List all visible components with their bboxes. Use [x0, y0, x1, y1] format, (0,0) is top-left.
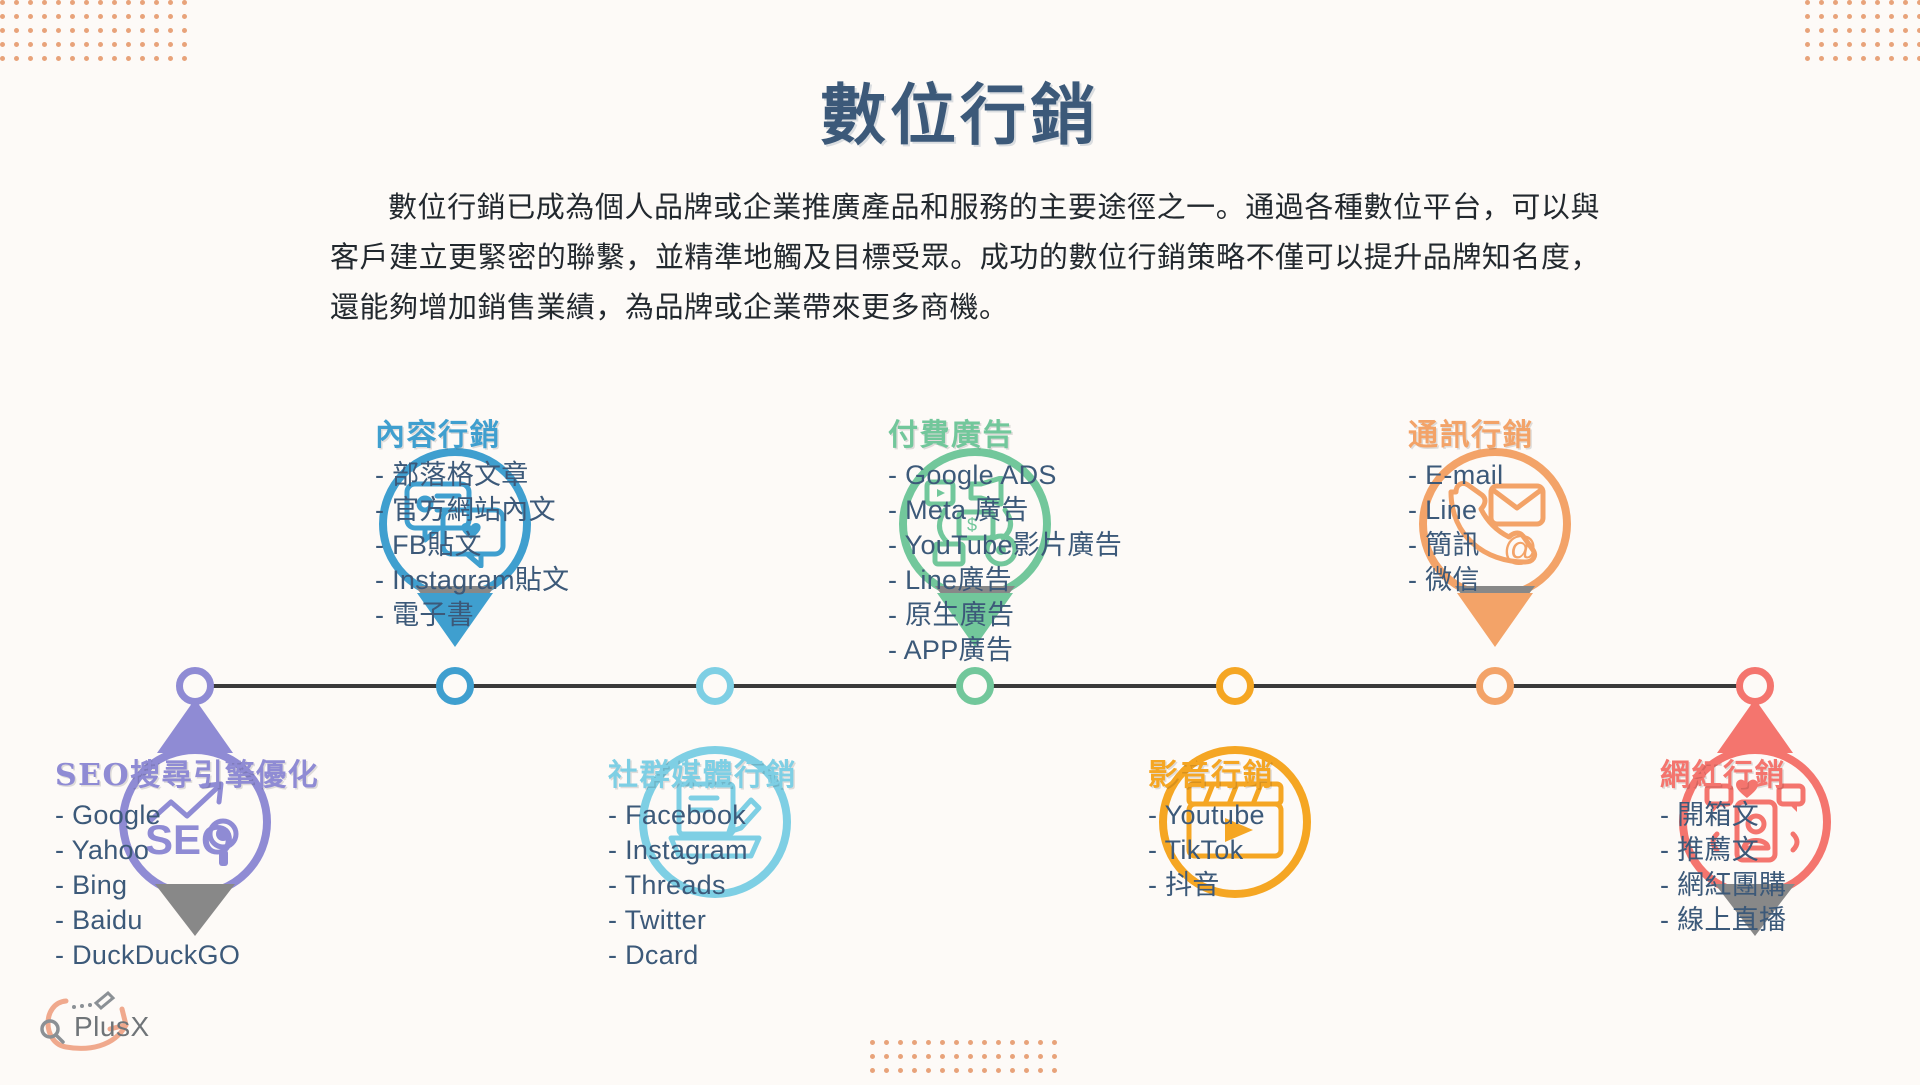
list-video: YoutubeTikTok抖音: [1148, 798, 1274, 903]
list-paid-ads: Google ADSMeta 廣告YouTube影片廣告Line廣告原生廣告AP…: [888, 458, 1122, 668]
list-item: 開箱文: [1660, 798, 1786, 833]
block-paid-ads: 付費廣告Google ADSMeta 廣告YouTube影片廣告Line廣告原生…: [888, 410, 1122, 668]
list-item: Google: [55, 798, 319, 833]
heading-messaging: 通訊行銷: [1408, 410, 1534, 454]
heading-seo: SEO搜尋引擎優化: [55, 750, 319, 794]
block-influencer: 網紅行銷開箱文推薦文網紅團購線上直播: [1660, 750, 1786, 938]
heading-paid-ads: 付費廣告: [888, 410, 1122, 454]
brand-logo: PlusX: [22, 985, 172, 1060]
pencil-icon: [96, 993, 113, 1008]
timeline-node-paid-ads[interactable]: [956, 667, 994, 705]
list-item: YouTube影片廣告: [888, 528, 1122, 563]
list-item: TikTok: [1148, 833, 1274, 868]
list-influencer: 開箱文推薦文網紅團購線上直播: [1660, 798, 1786, 938]
list-item: Twitter: [608, 903, 797, 938]
pin-tail-influencer: [1717, 699, 1793, 753]
list-item: Bing: [55, 868, 319, 903]
page-title: 數位行銷: [0, 62, 1920, 158]
list-item: Baidu: [55, 903, 319, 938]
list-item: Instagram: [608, 833, 797, 868]
list-item: E-mail: [1408, 458, 1534, 493]
logo-text: PlusX: [74, 1011, 150, 1043]
timeline-node-messaging[interactable]: [1476, 667, 1514, 705]
list-seo: GoogleYahooBingBaiduDuckDuckGO: [55, 798, 319, 973]
list-item: 線上直播: [1660, 903, 1786, 938]
pin-tail-seo: [157, 699, 233, 753]
block-content: 內容行銷部落格文章官方網站內文FB貼文Instagram貼文電子書: [375, 410, 569, 633]
list-item: Meta 廣告: [888, 493, 1122, 528]
list-messaging: E-mailLine簡訊微信: [1408, 458, 1534, 598]
pin-tail-messaging: [1457, 593, 1533, 647]
block-messaging: 通訊行銷E-mailLine簡訊微信: [1408, 410, 1534, 598]
list-item: Threads: [608, 868, 797, 903]
list-item: Youtube: [1148, 798, 1274, 833]
list-content: 部落格文章官方網站內文FB貼文Instagram貼文電子書: [375, 458, 569, 633]
timeline-node-social[interactable]: [696, 667, 734, 705]
heading-video: 影音行銷: [1148, 750, 1274, 794]
list-item: 簡訊: [1408, 528, 1534, 563]
list-item: 推薦文: [1660, 833, 1786, 868]
heading-social: 社群媒體行銷: [608, 750, 797, 794]
list-item: APP廣告: [888, 633, 1122, 668]
list-item: 部落格文章: [375, 458, 569, 493]
block-video: 影音行銷YoutubeTikTok抖音: [1148, 750, 1274, 903]
dot-pattern-top-left: [0, 0, 190, 70]
list-item: Instagram貼文: [375, 563, 569, 598]
timeline-node-content[interactable]: [436, 667, 474, 705]
dot-pattern-bottom: [870, 1040, 1060, 1085]
list-item: FB貼文: [375, 528, 569, 563]
list-item: Google ADS: [888, 458, 1122, 493]
list-item: 抖音: [1148, 868, 1274, 903]
list-item: 電子書: [375, 598, 569, 633]
heading-influencer: 網紅行銷: [1660, 750, 1786, 794]
list-social: FacebookInstagramThreadsTwitterDcard: [608, 798, 797, 973]
timeline-node-video[interactable]: [1216, 667, 1254, 705]
dot-pattern-top-right: [1805, 0, 1920, 70]
list-item: DuckDuckGO: [55, 938, 319, 973]
list-item: 官方網站內文: [375, 493, 569, 528]
list-item: Facebook: [608, 798, 797, 833]
list-item: 原生廣告: [888, 598, 1122, 633]
list-item: Line廣告: [888, 563, 1122, 598]
block-seo: SEO搜尋引擎優化GoogleYahooBingBaiduDuckDuckGO: [55, 750, 319, 973]
intro-paragraph: 數位行銷已成為個人品牌或企業推廣產品和服務的主要途徑之一。通過各種數位平台，可以…: [330, 182, 1600, 332]
heading-content: 內容行銷: [375, 410, 569, 454]
list-item: 網紅團購: [1660, 868, 1786, 903]
list-item: Line: [1408, 493, 1534, 528]
block-social: 社群媒體行銷FacebookInstagramThreadsTwitterDca…: [608, 750, 797, 973]
list-item: 微信: [1408, 563, 1534, 598]
list-item: Dcard: [608, 938, 797, 973]
list-item: Yahoo: [55, 833, 319, 868]
